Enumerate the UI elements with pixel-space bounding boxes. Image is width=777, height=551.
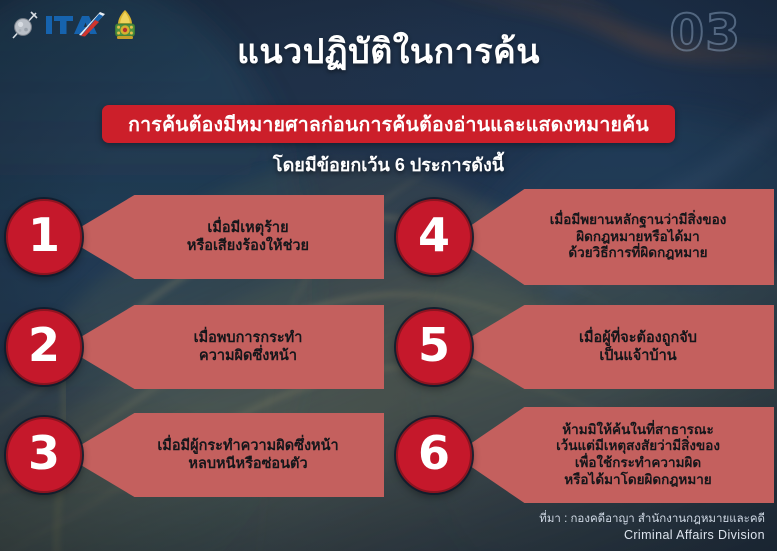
item-number-badge: 2 [6, 309, 82, 385]
item-text-line: เมื่อผู้ที่จะต้องถูกจับ [579, 329, 697, 347]
item-arrow-banner: เมื่อพบการกระทำ ความผิดซึ่งหน้า [64, 305, 384, 389]
item-arrow-banner: เมื่อผู้ที่จะต้องถูกจับ เป็นแจ้าบ้าน [454, 305, 774, 389]
item-number-badge: 1 [6, 199, 82, 275]
item-arrow-banner: เมื่อมีเหตุร้าย หรือเสียงร้องให้ช่วย [64, 195, 384, 279]
slide-canvas: 03 แนวปฏิบัติในการค้น การค้นต้องมีหมายศา… [0, 0, 777, 551]
list-item-5: 5 เมื่อผู้ที่จะต้องถูกจับ เป็นแจ้าบ้าน [396, 298, 774, 396]
item-text: เมื่อมีผู้กระทำความผิดซึ่งหน้า หลบหนีหรื… [157, 437, 338, 474]
item-text: ห้ามมิให้ค้นในที่สาธารณะ เว้นแต่มีเหตุสง… [556, 422, 720, 489]
item-arrow-banner: เมื่อมีผู้กระทำความผิดซึ่งหน้า หลบหนีหรื… [64, 413, 384, 497]
item-text-line: หลบหนีหรือซ่อนตัว [157, 455, 338, 473]
item-arrow-banner: เมื่อมีพยานหลักฐานว่ามีสิ่งของ ผิดกฎหมาย… [454, 189, 774, 285]
item-text: เมื่อมีเหตุร้าย หรือเสียงร้องให้ช่วย [187, 219, 309, 256]
exception-list: 1 เมื่อมีเหตุร้าย หรือเสียงร้องให้ช่วย 2… [0, 188, 777, 508]
item-number-badge: 5 [396, 309, 472, 385]
item-text-line: เมื่อมีพยานหลักฐานว่ามีสิ่งของ [550, 212, 727, 229]
item-number-badge: 6 [396, 417, 472, 493]
item-number-badge: 4 [396, 199, 472, 275]
item-text: เมื่อพบการกระทำ ความผิดซึ่งหน้า [194, 329, 303, 366]
item-text-line: หรือได้มาโดยผิดกฎหมาย [556, 472, 720, 489]
item-arrow-banner: ห้ามมิให้ค้นในที่สาธารณะ เว้นแต่มีเหตุสง… [454, 407, 774, 503]
item-number: 2 [28, 322, 60, 368]
item-text-line: เพื่อใช้กระทำความผิด [556, 455, 720, 472]
highlight-banner-text: การค้นต้องมีหมายศาลก่อนการค้นต้องอ่านและ… [128, 109, 649, 140]
item-text-line: ห้ามมิให้ค้นในที่สาธารณะ [556, 422, 720, 439]
item-text-line: หรือเสียงร้องให้ช่วย [187, 237, 309, 255]
list-item-6: 6 ห้ามมิให้ค้นในที่สาธารณะ เว้นแต่มีเหตุ… [396, 406, 774, 504]
item-text-line: เว้นแต่มีเหตุสงสัยว่ามีสิ่งของ [556, 438, 720, 455]
highlight-banner: การค้นต้องมีหมายศาลก่อนการค้นต้องอ่านและ… [102, 105, 675, 143]
item-number: 5 [418, 322, 450, 368]
item-number: 3 [28, 430, 60, 476]
list-item-1: 1 เมื่อมีเหตุร้าย หรือเสียงร้องให้ช่วย [6, 188, 384, 286]
item-text-line: ด้วยวิธีการที่ผิดกฎหมาย [550, 245, 727, 262]
item-number: 1 [28, 212, 60, 258]
list-item-3: 3 เมื่อมีผู้กระทำความผิดซึ่งหน้า หลบหนีห… [6, 406, 384, 504]
item-number-badge: 3 [6, 417, 82, 493]
item-text-line: เมื่อมีเหตุร้าย [187, 219, 309, 237]
item-number: 6 [418, 430, 450, 476]
list-item-2: 2 เมื่อพบการกระทำ ความผิดซึ่งหน้า [6, 298, 384, 396]
page-title: แนวปฏิบัติในการค้น [0, 24, 777, 78]
item-text-line: เป็นแจ้าบ้าน [579, 347, 697, 365]
item-text: เมื่อมีพยานหลักฐานว่ามีสิ่งของ ผิดกฎหมาย… [550, 212, 727, 262]
subtitle: โดยมีข้อยกเว้น 6 ประการดังนี้ [0, 150, 777, 179]
item-text: เมื่อผู้ที่จะต้องถูกจับ เป็นแจ้าบ้าน [579, 329, 697, 366]
item-text-line: ความผิดซึ่งหน้า [194, 347, 303, 365]
source-credit-english: Criminal Affairs Division [539, 527, 765, 545]
source-credit: ที่มา : กองคดีอาญา สำนักงานกฎหมายและคดี … [539, 511, 765, 545]
item-text-line: เมื่อมีผู้กระทำความผิดซึ่งหน้า [157, 437, 338, 455]
item-text-line: ผิดกฎหมายหรือได้มา [550, 229, 727, 246]
list-item-4: 4 เมื่อมีพยานหลักฐานว่ามีสิ่งของ ผิดกฎหม… [396, 188, 774, 286]
item-number: 4 [418, 212, 450, 258]
item-text-line: เมื่อพบการกระทำ [194, 329, 303, 347]
source-credit-thai: ที่มา : กองคดีอาญา สำนักงานกฎหมายและคดี [539, 513, 765, 525]
